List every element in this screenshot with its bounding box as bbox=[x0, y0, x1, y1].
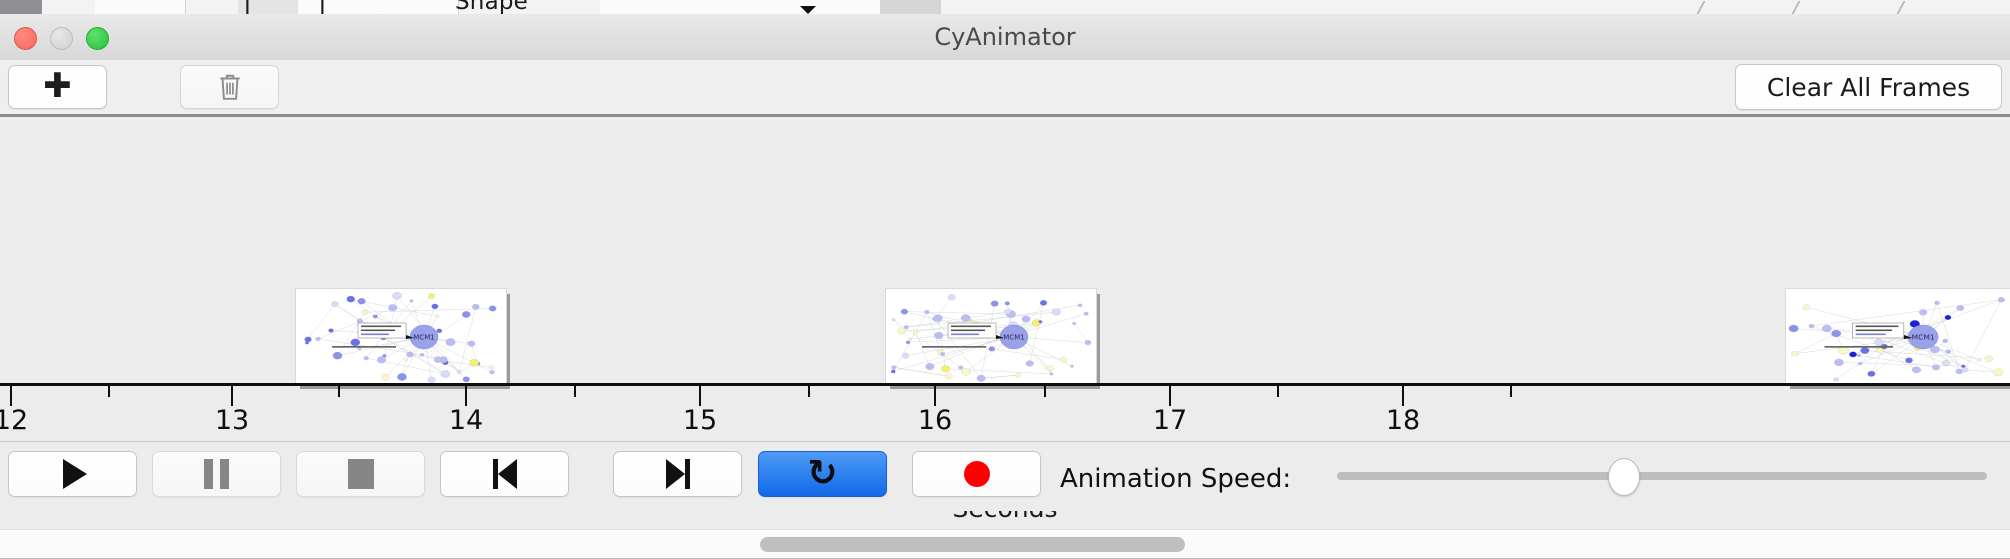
timeline-scrollbar[interactable] bbox=[0, 529, 2010, 559]
axis-tick bbox=[1169, 386, 1171, 406]
axis-tick bbox=[934, 386, 936, 406]
axis-tick bbox=[1277, 386, 1279, 397]
axis-tick bbox=[574, 386, 576, 397]
axis-tick bbox=[465, 386, 467, 406]
slider-thumb[interactable] bbox=[1608, 458, 1640, 496]
axis-tick bbox=[10, 386, 12, 406]
axis-tick bbox=[108, 386, 110, 397]
add-frame-button[interactable]: ✚ bbox=[8, 65, 107, 109]
axis-tick bbox=[699, 386, 701, 406]
background-window-shape-text: Shape bbox=[455, 0, 528, 14]
previous-frame-button[interactable] bbox=[440, 451, 569, 497]
axis-tick-label: 13 bbox=[215, 405, 249, 436]
background-segment bbox=[95, 0, 186, 14]
next-frame-button[interactable] bbox=[613, 451, 742, 497]
loop-icon: ↻ bbox=[807, 459, 837, 489]
background-toolbar-dark bbox=[0, 0, 42, 14]
axis-tick bbox=[1402, 386, 1404, 406]
clear-all-frames-button[interactable]: Clear All Frames bbox=[1735, 64, 2002, 110]
axis-tick bbox=[338, 386, 340, 397]
axis-tick bbox=[231, 386, 233, 406]
window-title: CyAnimator bbox=[0, 14, 2010, 60]
animation-speed-label: Animation Speed: bbox=[1060, 464, 1291, 494]
pause-icon bbox=[204, 459, 229, 489]
background-segment bbox=[880, 0, 941, 14]
animation-speed-slider[interactable] bbox=[1337, 472, 1987, 480]
clear-all-frames-label: Clear All Frames bbox=[1767, 73, 1970, 102]
background-slash-icon bbox=[1897, 1, 1919, 14]
skip-previous-icon bbox=[493, 459, 517, 489]
axis-tick-label: 15 bbox=[683, 405, 717, 436]
axis-tick bbox=[808, 386, 810, 397]
frame-thumbnail[interactable]: MCM1 bbox=[885, 288, 1095, 383]
svg-text:MCM1: MCM1 bbox=[413, 334, 434, 342]
timeline-axis: 12131415161718 bbox=[0, 383, 2010, 419]
background-window-strip: | | Shape bbox=[0, 0, 2010, 14]
play-icon bbox=[63, 459, 87, 489]
frame-network-image: MCM1 bbox=[1785, 288, 2010, 385]
background-slash-icon bbox=[1697, 1, 1719, 14]
frame-thumbnails: MCM1MCM1MCM1 bbox=[0, 117, 2010, 383]
svg-text:MCM1: MCM1 bbox=[1912, 333, 1935, 342]
frame-network-image: MCM1 bbox=[295, 288, 507, 385]
record-icon bbox=[964, 461, 990, 487]
axis-tick-label: 12 bbox=[0, 405, 28, 436]
background-segment bbox=[600, 0, 901, 14]
scrollbar-thumb[interactable] bbox=[760, 537, 1185, 552]
axis-tick-label: 17 bbox=[1153, 405, 1187, 436]
axis-tick-label: 14 bbox=[449, 405, 483, 436]
frame-network-image: MCM1 bbox=[885, 288, 1097, 385]
svg-text:MCM1: MCM1 bbox=[1003, 334, 1024, 342]
playback-controls: ↻ Animation Speed: bbox=[0, 441, 2010, 511]
axis-tick bbox=[1044, 386, 1046, 397]
frame-thumbnail[interactable]: MCM1 bbox=[295, 288, 505, 383]
background-triangle-icon bbox=[800, 6, 816, 14]
axis-tick-label: 16 bbox=[918, 405, 952, 436]
timeline-panel[interactable]: MCM1MCM1MCM1 12131415161718 Seconds bbox=[0, 114, 2010, 416]
slider-track[interactable] bbox=[1337, 472, 1987, 480]
play-button[interactable] bbox=[8, 451, 137, 497]
background-slash-icon bbox=[1792, 1, 1814, 14]
stop-icon bbox=[348, 459, 374, 489]
axis-tick bbox=[1510, 386, 1512, 397]
axis-line bbox=[0, 383, 2010, 386]
title-bar: CyAnimator bbox=[0, 14, 2010, 61]
cyanimator-window: | | Shape CyAnimator ✚ Cl bbox=[0, 0, 2010, 510]
stop-button[interactable] bbox=[296, 451, 425, 497]
skip-next-icon bbox=[666, 459, 690, 489]
delete-frame-button[interactable] bbox=[180, 65, 279, 109]
frame-thumbnail[interactable]: MCM1 bbox=[1785, 288, 2010, 383]
record-button[interactable] bbox=[912, 451, 1041, 497]
pause-button[interactable] bbox=[152, 451, 281, 497]
loop-button[interactable]: ↻ bbox=[758, 451, 887, 497]
trash-icon bbox=[217, 72, 243, 102]
toolbar: ✚ Clear All Frames bbox=[0, 60, 2010, 115]
axis-tick-label: 18 bbox=[1386, 405, 1420, 436]
